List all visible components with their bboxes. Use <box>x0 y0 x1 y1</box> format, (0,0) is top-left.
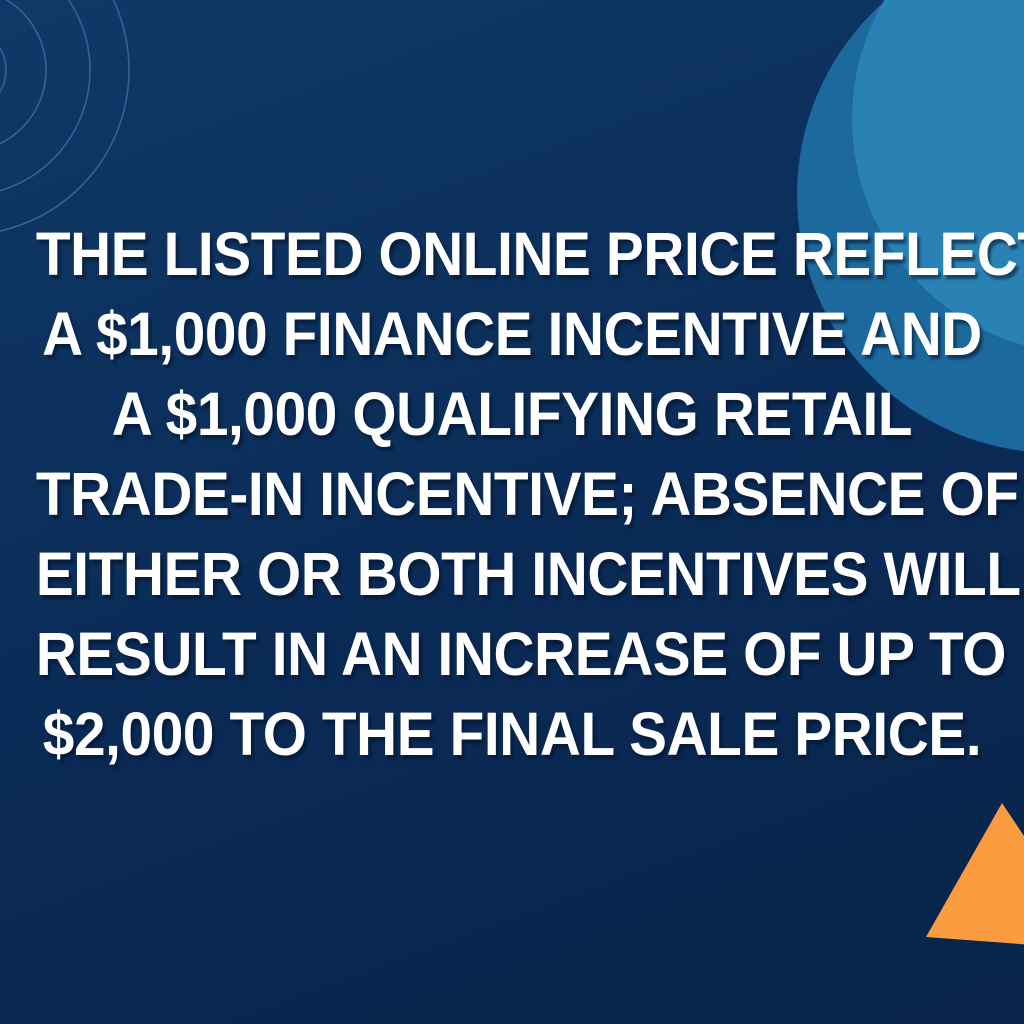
headline-text: THE LISTED ONLINE PRICE REFLECTS A $1,00… <box>36 214 988 774</box>
headline-line-6: RESULT IN AN INCREASE OF UP TO <box>36 614 988 694</box>
headline-line-3: A $1,000 QUALIFYING RETAIL <box>36 374 988 454</box>
headline-line-2: A $1,000 FINANCE INCENTIVE AND <box>36 294 988 374</box>
headline-line-7: $2,000 TO THE FINAL SALE PRICE. <box>36 694 988 774</box>
headline-line-5: EITHER OR BOTH INCENTIVES WILL <box>36 534 988 614</box>
headline-line-1: THE LISTED ONLINE PRICE REFLECTS <box>36 214 988 294</box>
headline-line-4: TRADE-IN INCENTIVE; ABSENCE OF <box>36 454 988 534</box>
promo-graphic-canvas: THE LISTED ONLINE PRICE REFLECTS A $1,00… <box>0 0 1024 1024</box>
orange-triangle <box>900 780 1024 950</box>
